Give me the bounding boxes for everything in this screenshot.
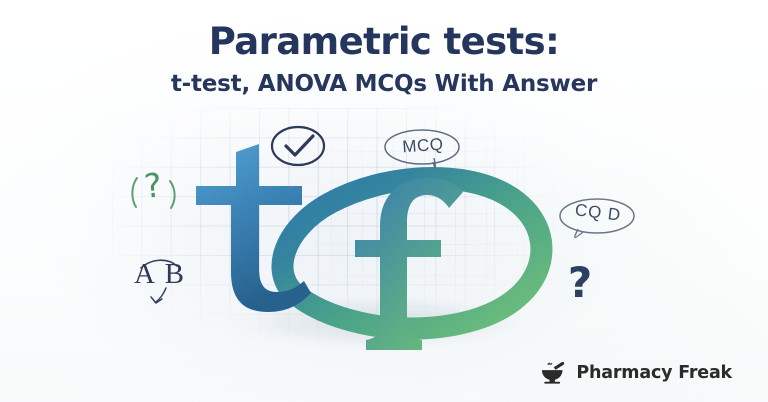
brand-name: Pharmacy Freak <box>576 363 732 383</box>
brand-logo[interactable]: Pharmacy Freak <box>539 361 732 385</box>
graph-paper-grid-secondary <box>300 120 590 330</box>
featured-image-canvas: Parametric tests: t-test, ANOVA MCQs Wit… <box>0 0 768 402</box>
mortar-and-pestle-icon <box>539 361 569 385</box>
page-title: Parametric tests: <box>0 20 768 64</box>
title-block: Parametric tests: t-test, ANOVA MCQs Wit… <box>0 20 768 98</box>
page-subtitle: t-test, ANOVA MCQs With Answer <box>0 70 768 98</box>
